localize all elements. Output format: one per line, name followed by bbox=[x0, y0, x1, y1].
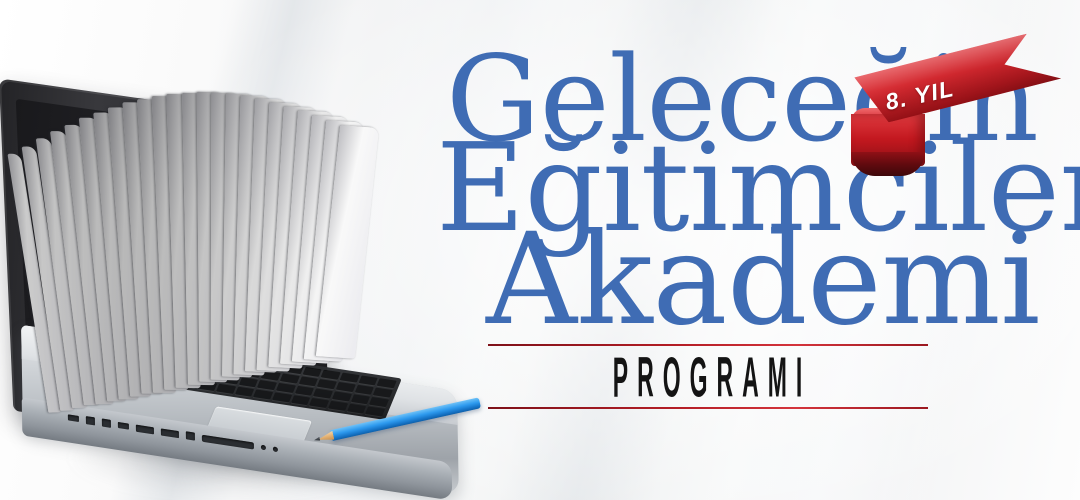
keyboard-key bbox=[239, 377, 259, 387]
anniversary-ribbon: 8. YIL bbox=[849, 64, 1061, 182]
keyboard-key bbox=[365, 406, 385, 416]
title-lockup: Geleceğin Eğitimcileri Akademi PROGRAMI … bbox=[432, 52, 1052, 452]
keyboard-key bbox=[351, 394, 371, 404]
pencil-lead bbox=[314, 437, 321, 442]
keyboard-key bbox=[253, 389, 273, 399]
keyboard-key bbox=[328, 401, 348, 411]
promo-banner: Geleceğin Eğitimcileri Akademi PROGRAMI … bbox=[0, 0, 1080, 500]
keyboard-key bbox=[309, 398, 329, 408]
keyboard-key bbox=[340, 373, 360, 383]
keyboard-key bbox=[373, 388, 393, 398]
port-firewire bbox=[102, 418, 111, 427]
keyboard-key bbox=[321, 370, 341, 380]
port-usb-2 bbox=[161, 428, 179, 438]
keyboard-key bbox=[298, 376, 318, 386]
keyboard-key bbox=[291, 395, 311, 405]
keyboard-key bbox=[313, 389, 333, 399]
port-thunderbolt bbox=[118, 422, 129, 430]
keyboard-key bbox=[332, 391, 352, 401]
port-audio-in bbox=[261, 444, 266, 450]
port-usb-1 bbox=[136, 424, 154, 434]
keyboard-key bbox=[276, 383, 296, 393]
keyboard-key bbox=[272, 392, 292, 402]
keyboard-key bbox=[369, 397, 389, 407]
keyboard-key bbox=[257, 380, 277, 390]
port-sd-card bbox=[186, 431, 195, 440]
port-ethernet bbox=[86, 416, 95, 425]
port-disc-slot bbox=[202, 434, 254, 449]
subtitle-strip: PROGRAMI bbox=[488, 344, 928, 409]
keyboard-key bbox=[317, 379, 337, 389]
subtitle-text: PROGRAMI bbox=[598, 345, 818, 408]
port-audio-out bbox=[273, 446, 278, 452]
port-magsafe bbox=[68, 414, 79, 422]
keyboard-key bbox=[358, 375, 378, 385]
laptop-with-book-image bbox=[0, 58, 470, 500]
ribbon-tail-curl bbox=[851, 152, 925, 176]
keyboard-key bbox=[295, 386, 315, 396]
keyboard-key bbox=[302, 367, 322, 377]
keyboard-key bbox=[347, 404, 367, 414]
keyboard-key bbox=[354, 385, 374, 395]
title-line-3: Akademi bbox=[486, 230, 1052, 331]
keyboard-key bbox=[336, 382, 356, 392]
keyboard-key bbox=[280, 373, 300, 383]
keyboard-key bbox=[216, 384, 236, 394]
keyboard-key bbox=[235, 387, 255, 397]
keyboard-key bbox=[377, 378, 397, 388]
